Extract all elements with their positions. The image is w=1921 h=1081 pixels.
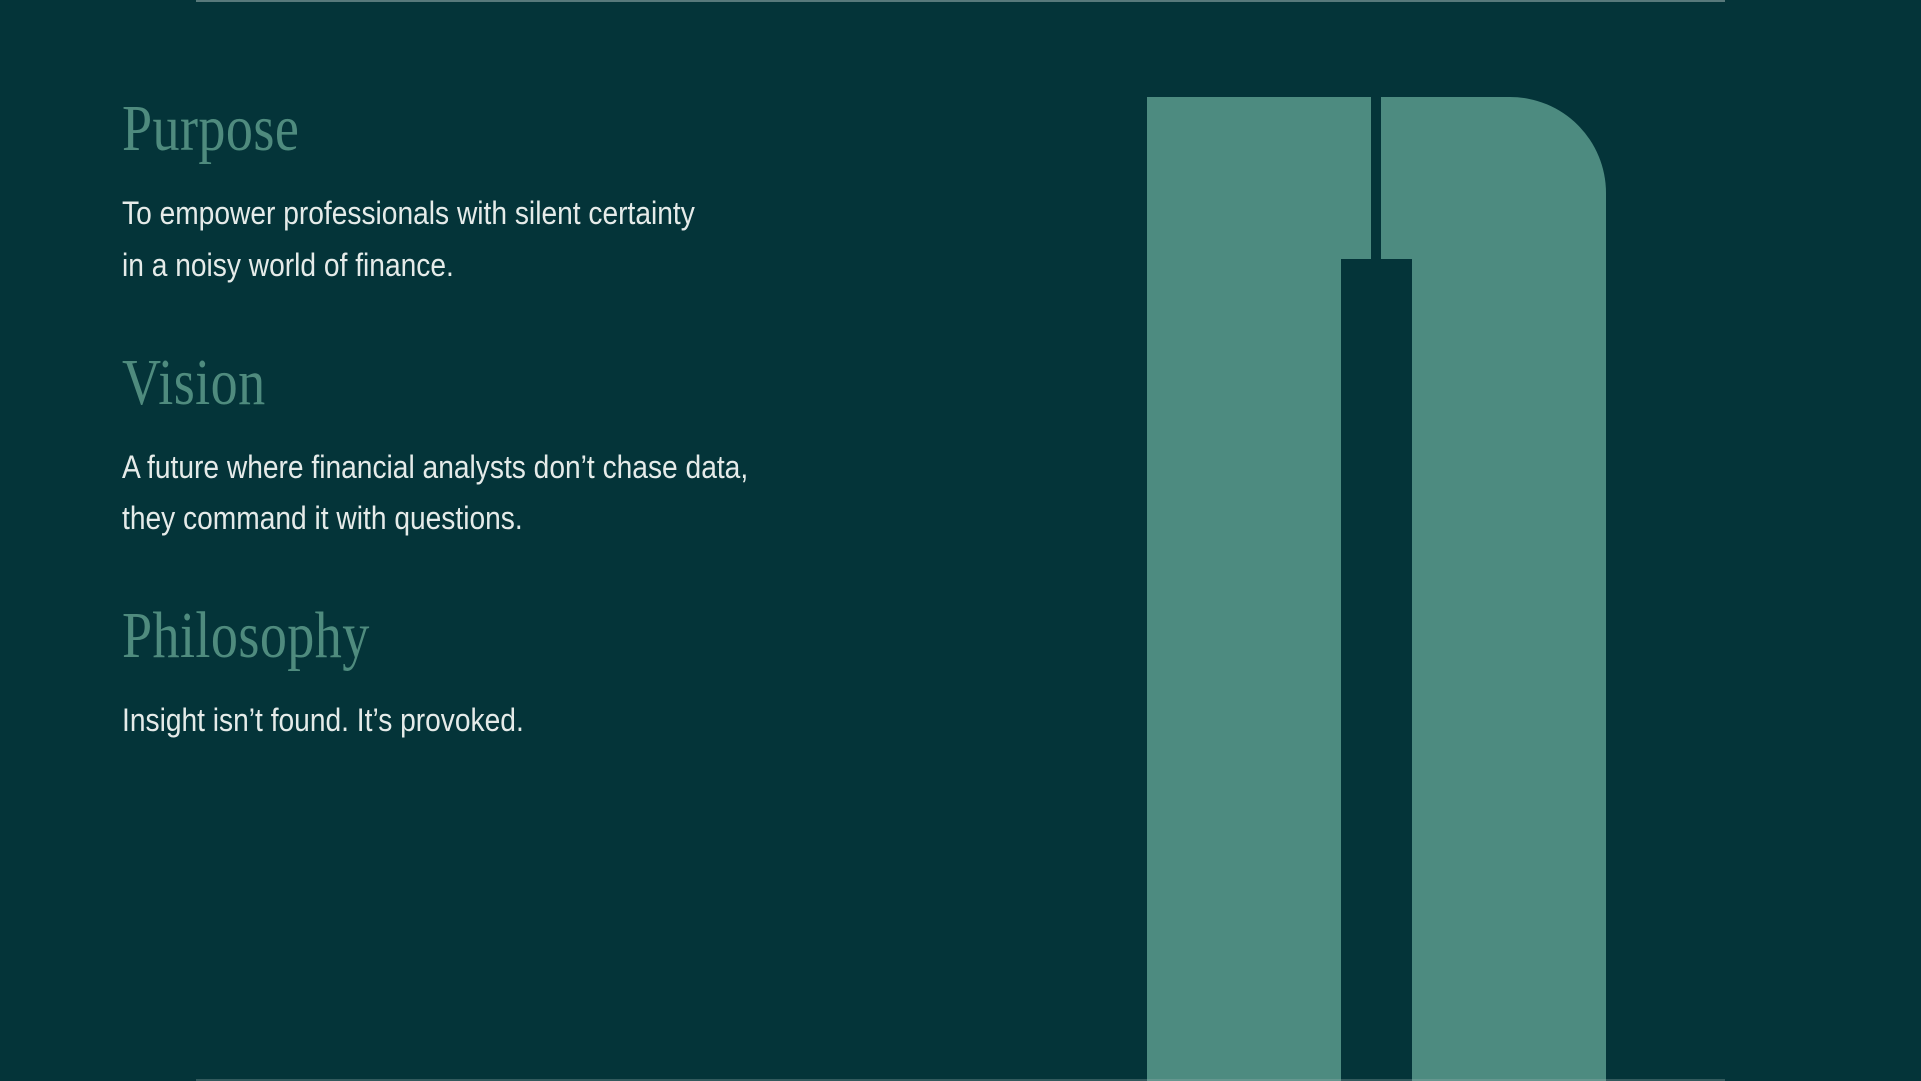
text-content-column: Purpose To empower professionals with si… [122, 96, 1002, 747]
section-purpose: Purpose To empower professionals with si… [122, 96, 1002, 292]
body-vision: A future where financial analysts don’t … [122, 442, 896, 546]
body-philosophy: Insight isn’t found. It’s provoked. [122, 695, 896, 747]
monogram-right-column [1381, 97, 1606, 1081]
section-philosophy: Philosophy Insight isn’t found. It’s pro… [122, 603, 1002, 747]
monogram-notch [1341, 259, 1412, 1081]
body-purpose: To empower professionals with silent cer… [122, 188, 896, 292]
slide-canvas: Purpose To empower professionals with si… [0, 0, 1921, 1081]
section-vision: Vision A future where financial analysts… [122, 350, 1002, 546]
monogram-left-column [1147, 97, 1371, 1081]
heading-vision: Vision [122, 350, 844, 416]
heading-purpose: Purpose [122, 96, 844, 162]
top-divider-rule [196, 0, 1725, 2]
brand-monogram-mark-icon [1147, 97, 1606, 1081]
heading-philosophy: Philosophy [122, 603, 844, 669]
